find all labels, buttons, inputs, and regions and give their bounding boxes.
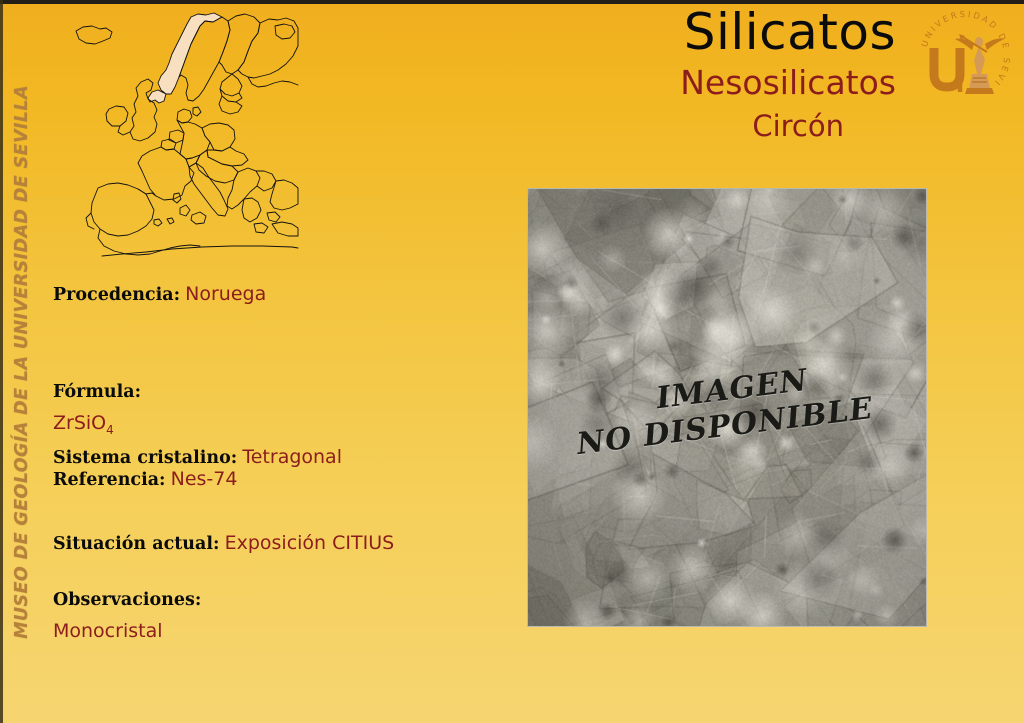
situacion-actual-label: Situación actual:	[53, 534, 219, 554]
field-sistema-cristalino: Sistema cristalino: Tetragonal	[53, 446, 513, 468]
europe-map	[62, 8, 300, 258]
field-situacion-actual: Situación actual: Exposición CITIUS	[53, 532, 513, 554]
observaciones-label: Observaciones:	[53, 590, 201, 610]
spacer-before-observaciones	[53, 554, 513, 590]
header-titles: Silicatos Nesosilicatos Circón	[296, 4, 896, 145]
spacer-formula	[53, 402, 513, 412]
specimen-photo-canvas	[528, 189, 926, 626]
mineral-name-title: Circón	[296, 107, 896, 145]
formula-label: Fórmula:	[53, 382, 141, 402]
mineral-record-card: MUSEO DE GEOLOGÍA DE LA UNIVERSIDAD DE S…	[0, 0, 1024, 723]
universidad-de-sevilla-logo-icon: UNIVERSIDAD DE SEVILLA	[917, 8, 1013, 104]
spacer-after-procedencia	[53, 305, 513, 382]
sistema-cristalino-value: Tetragonal	[242, 446, 342, 468]
field-formula-label: Fórmula:	[53, 382, 513, 402]
spacer-observaciones	[53, 610, 513, 620]
observaciones-value: Monocristal	[53, 620, 163, 642]
procedencia-value: Noruega	[185, 283, 266, 305]
formula-value-main: ZrSiO	[53, 412, 106, 434]
field-formula-value: ZrSiO4	[53, 412, 513, 437]
svg-text:UNIVERSIDAD DE: UNIVERSIDAD DE	[919, 9, 1012, 52]
spacer-before-situacion	[53, 490, 513, 532]
procedencia-label: Procedencia:	[53, 285, 180, 305]
museum-vertical-caption: MUSEO DE GEOLOGÍA DE LA UNIVERSIDAD DE S…	[12, 85, 32, 639]
referencia-label: Referencia:	[53, 470, 166, 490]
field-observaciones-value: Monocristal	[53, 620, 513, 642]
specimen-photo: IMAGEN NO DISPONIBLE	[527, 188, 927, 627]
field-observaciones-label: Observaciones:	[53, 590, 513, 610]
formula-value-subscript: 4	[106, 423, 114, 437]
mineral-subgroup-title: Nesosilicatos	[296, 62, 896, 104]
situacion-actual-value: Exposición CITIUS	[225, 532, 395, 554]
field-referencia: Referencia: Nes-74	[53, 468, 513, 490]
museum-caption-strip: MUSEO DE GEOLOGÍA DE LA UNIVERSIDAD DE S…	[0, 0, 46, 723]
mineral-data-fields: Procedencia: Noruega Fórmula: ZrSiO4 Sis…	[53, 283, 513, 642]
spacer-after-formula	[53, 437, 513, 446]
field-procedencia: Procedencia: Noruega	[53, 283, 513, 305]
formula-value: ZrSiO4	[53, 412, 114, 434]
sistema-cristalino-label: Sistema cristalino:	[53, 448, 237, 468]
referencia-value: Nes-74	[171, 468, 238, 490]
mineral-group-title: Silicatos	[296, 4, 896, 60]
